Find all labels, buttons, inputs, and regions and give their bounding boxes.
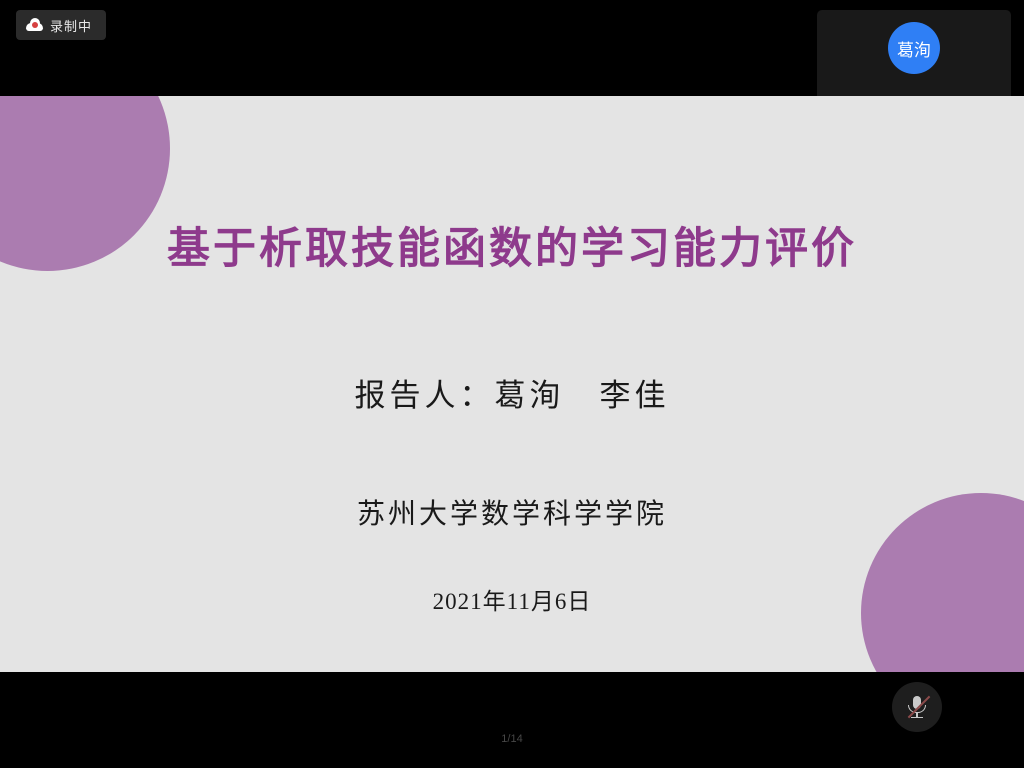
slide-affiliation: 苏州大学数学科学学院 xyxy=(0,492,1024,532)
recording-badge: 录制中 xyxy=(16,10,106,40)
avatar: 葛洵 xyxy=(888,22,940,74)
cloud-record-icon xyxy=(26,18,43,32)
microphone-muted-icon xyxy=(906,694,928,720)
slide-title: 基于析取技能函数的学习能力评价 xyxy=(0,214,1024,276)
page-indicator: 1/14 xyxy=(0,733,1024,745)
mute-button[interactable] xyxy=(892,682,942,732)
screen-share-viewer: 录制中 葛洵 葛洵的屏幕共享 基于析取技能函数的学习能力评价 报告人：葛洵 李佳… xyxy=(0,0,1024,768)
recording-label: 录制中 xyxy=(50,16,92,35)
presentation-slide[interactable]: 基于析取技能函数的学习能力评价 报告人：葛洵 李佳 苏州大学数学科学学院 202… xyxy=(0,96,1024,672)
slide-presenter: 报告人：葛洵 李佳 xyxy=(0,370,1024,415)
slide-date: 2021年11月6日 xyxy=(0,582,1024,616)
